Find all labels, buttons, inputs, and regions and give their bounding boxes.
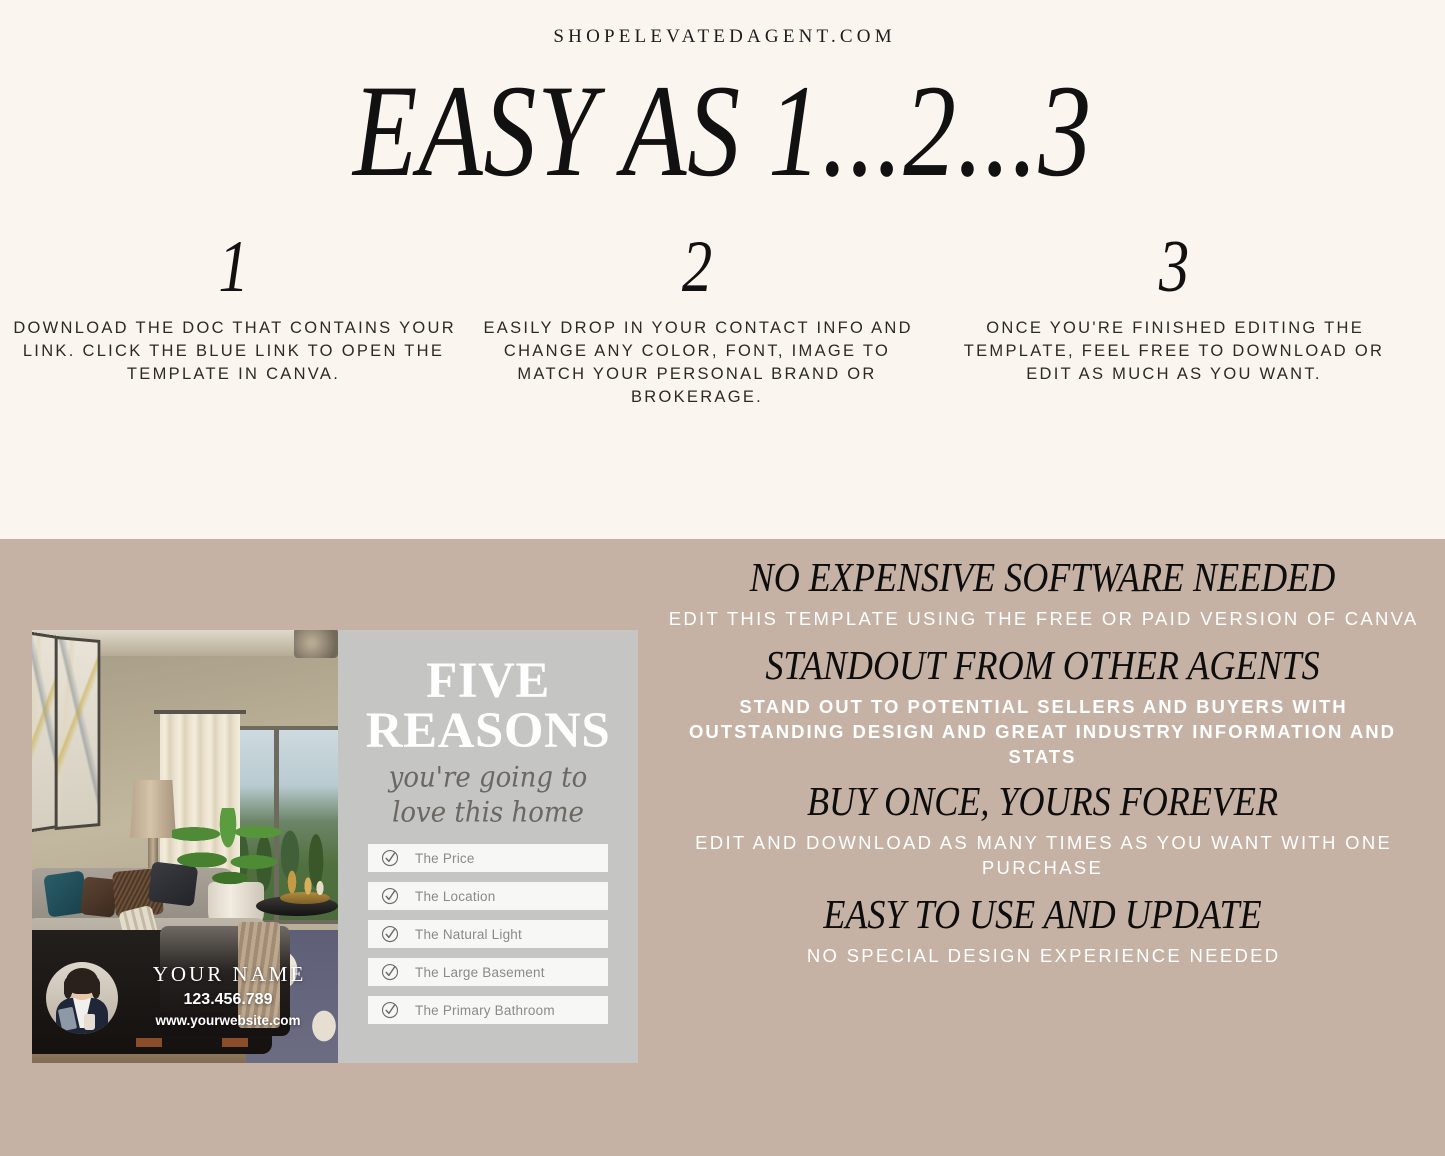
checklist-label: The Large Basement [415,965,545,980]
step-item-3: 3 ONCE YOU'RE FINISHED EDITING THE TEMPL… [944,228,1404,409]
panel-heading-line-1: FIVE [338,656,638,706]
feature-item-1: NO EXPENSIVE SOFTWARE NEEDED EDIT THIS T… [640,553,1445,631]
agent-contact-badge: YOUR NAME 123.456.789 www.yourwebsite.co… [46,956,338,1046]
page-title: EASY AS 1...2...3 [145,68,1301,194]
feature-title-2: STANDOUT FROM OTHER AGENTS [688,641,1396,690]
list-item[interactable]: The Natural Light [368,920,608,948]
table-lamp-shade [130,780,176,838]
list-item[interactable]: The Price [368,844,608,872]
step-description-1: DOWNLOAD THE DOC THAT CONTAINS YOUR LINK… [5,317,462,386]
circle-check-icon [381,887,399,905]
panel-heading: FIVE REASONS [338,656,638,756]
avatar [46,962,118,1034]
avatar-hair-sides [64,978,100,1004]
feature-subtitle-4: NO SPECIAL DESIGN EXPERIENCE NEEDED [640,943,1445,968]
feature-title-3: BUY ONCE, YOURS FOREVER [688,777,1396,826]
steps-row: 1 DOWNLOAD THE DOC THAT CONTAINS YOUR LI… [0,228,1445,409]
circle-check-icon [381,1001,399,1019]
agent-website: www.yourwebsite.com [118,1013,338,1028]
feature-title-1: NO EXPENSIVE SOFTWARE NEEDED [688,553,1396,602]
circle-check-icon [381,963,399,981]
panel-heading-line-2: REASONS [338,706,638,756]
step-description-2: EASILY DROP IN YOUR CONTACT INFO AND CHA… [462,317,932,409]
panel-subheading-line-2: love this home [338,796,638,831]
feature-subtitle-2: STAND OUT TO POTENTIAL SELLERS AND BUYER… [640,694,1445,769]
feature-list: NO EXPENSIVE SOFTWARE NEEDED EDIT THIS T… [640,553,1445,968]
checklist-label: The Natural Light [415,927,522,942]
feature-subtitle-3: EDIT AND DOWNLOAD AS MANY TIMES AS YOU W… [640,830,1445,880]
checklist-label: The Price [415,851,475,866]
checklist-label: The Location [415,889,495,904]
feature-item-2: STANDOUT FROM OTHER AGENTS STAND OUT TO … [640,641,1445,769]
step-number-2: 2 [504,228,889,306]
list-item[interactable]: The Primary Bathroom [368,996,608,1024]
chandelier [294,630,338,658]
curtain-rod [154,710,246,714]
step-description-3: ONCE YOU'RE FINISHED EDITING THE TEMPLAT… [944,317,1404,386]
avatar-coffee-cup [84,1014,95,1030]
benefits-section: YOUR NAME 123.456.789 www.yourwebsite.co… [0,539,1445,1156]
step-item-2: 2 EASILY DROP IN YOUR CONTACT INFO AND C… [462,228,932,409]
list-item[interactable]: The Location [368,882,608,910]
feature-title-4: EASY TO USE AND UPDATE [688,890,1396,939]
feature-item-3: BUY ONCE, YOURS FOREVER EDIT AND DOWNLOA… [640,777,1445,880]
site-url-header: SHOPELEVATEDAGENT.COM [0,26,1445,48]
list-item[interactable]: The Large Basement [368,958,608,986]
wall-art-frame-2 [55,636,101,830]
circle-check-icon [381,925,399,943]
agent-phone: 123.456.789 [118,991,338,1009]
circle-check-icon [381,849,399,867]
five-reasons-panel: FIVE REASONS you're going to love this h… [338,630,638,1063]
agent-name: YOUR NAME [118,962,338,987]
step-item-1: 1 DOWNLOAD THE DOC THAT CONTAINS YOUR LI… [5,228,462,409]
feature-subtitle-1: EDIT THIS TEMPLATE USING THE FREE OR PAI… [640,606,1445,631]
poster-page: SHOPELEVATEDAGENT.COM EASY AS 1...2...3 … [0,0,1445,1156]
step-number-3: 3 [985,228,1362,306]
panel-subheading-line-1: you're going to [338,761,638,796]
checklist-label: The Primary Bathroom [415,1003,555,1018]
intro-section: SHOPELEVATEDAGENT.COM EASY AS 1...2...3 … [0,0,1445,539]
step-number-1: 1 [46,228,421,306]
product-mockup: YOUR NAME 123.456.789 www.yourwebsite.co… [32,630,638,1063]
feature-item-4: EASY TO USE AND UPDATE NO SPECIAL DESIGN… [640,890,1445,968]
gold-decor-objects [284,868,328,900]
reasons-checklist: The Price The Location [368,844,608,1034]
panel-subheading: you're going to love this home [338,761,638,831]
living-room-photo: YOUR NAME 123.456.789 www.yourwebsite.co… [32,630,338,1063]
